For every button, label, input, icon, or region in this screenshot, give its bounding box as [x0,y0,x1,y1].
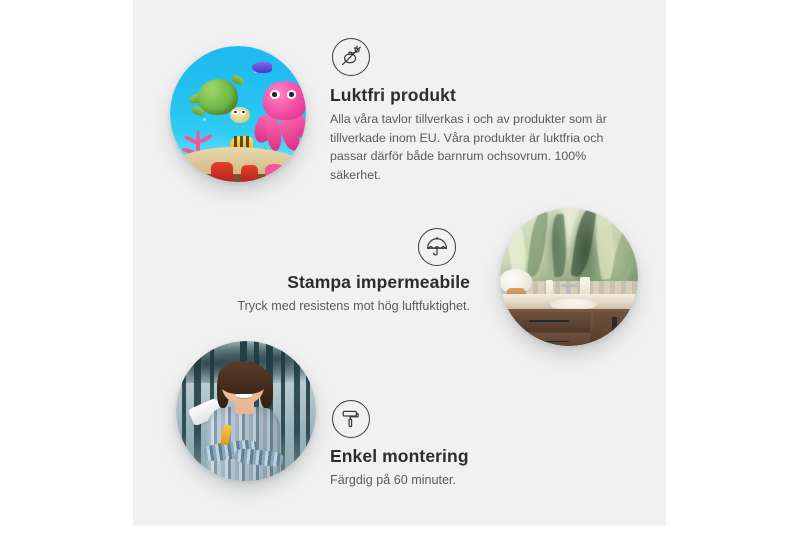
no-fragrance-icon [332,38,370,76]
icon-wrapper [330,38,630,76]
sea-medallion-image [170,46,306,182]
vanity-cabinet [508,309,638,346]
feature-odor-free: Luktfri produkt Alla våra tavlor tillver… [330,38,630,184]
screenshot-root: Luktfri produkt Alla våra tavlor tillver… [0,0,800,533]
octopus-figure [254,81,306,152]
faucet-spout [561,284,578,287]
small-fish [252,62,272,73]
bathroom-medallion-image [500,208,638,346]
feature-description: Tryck med resistens mot hög luftfuktighe… [180,297,470,316]
umbrella-icon [418,228,456,266]
icon-wrapper [180,228,470,266]
installer-medallion-image [176,341,316,481]
paint-roller-icon [332,400,370,438]
feature-title: Enkel montering [330,446,610,467]
feature-easy-mounting: Enkel montering Färgdig på 60 minuter. [330,400,610,490]
hair-top [218,361,268,395]
feature-description: Alla våra tavlor tillverkas i och av pro… [330,110,630,184]
sea-bottom-objects [170,160,306,182]
feature-title: Stampa impermeabile [180,272,470,293]
icon-wrapper [330,400,610,438]
feature-waterproof: Stampa impermeabile Tryck med resistens … [180,228,470,316]
turtle-figure [188,79,248,125]
feature-title: Luktfri produkt [330,85,630,106]
feature-description: Färgdig på 60 minuter. [330,471,610,490]
